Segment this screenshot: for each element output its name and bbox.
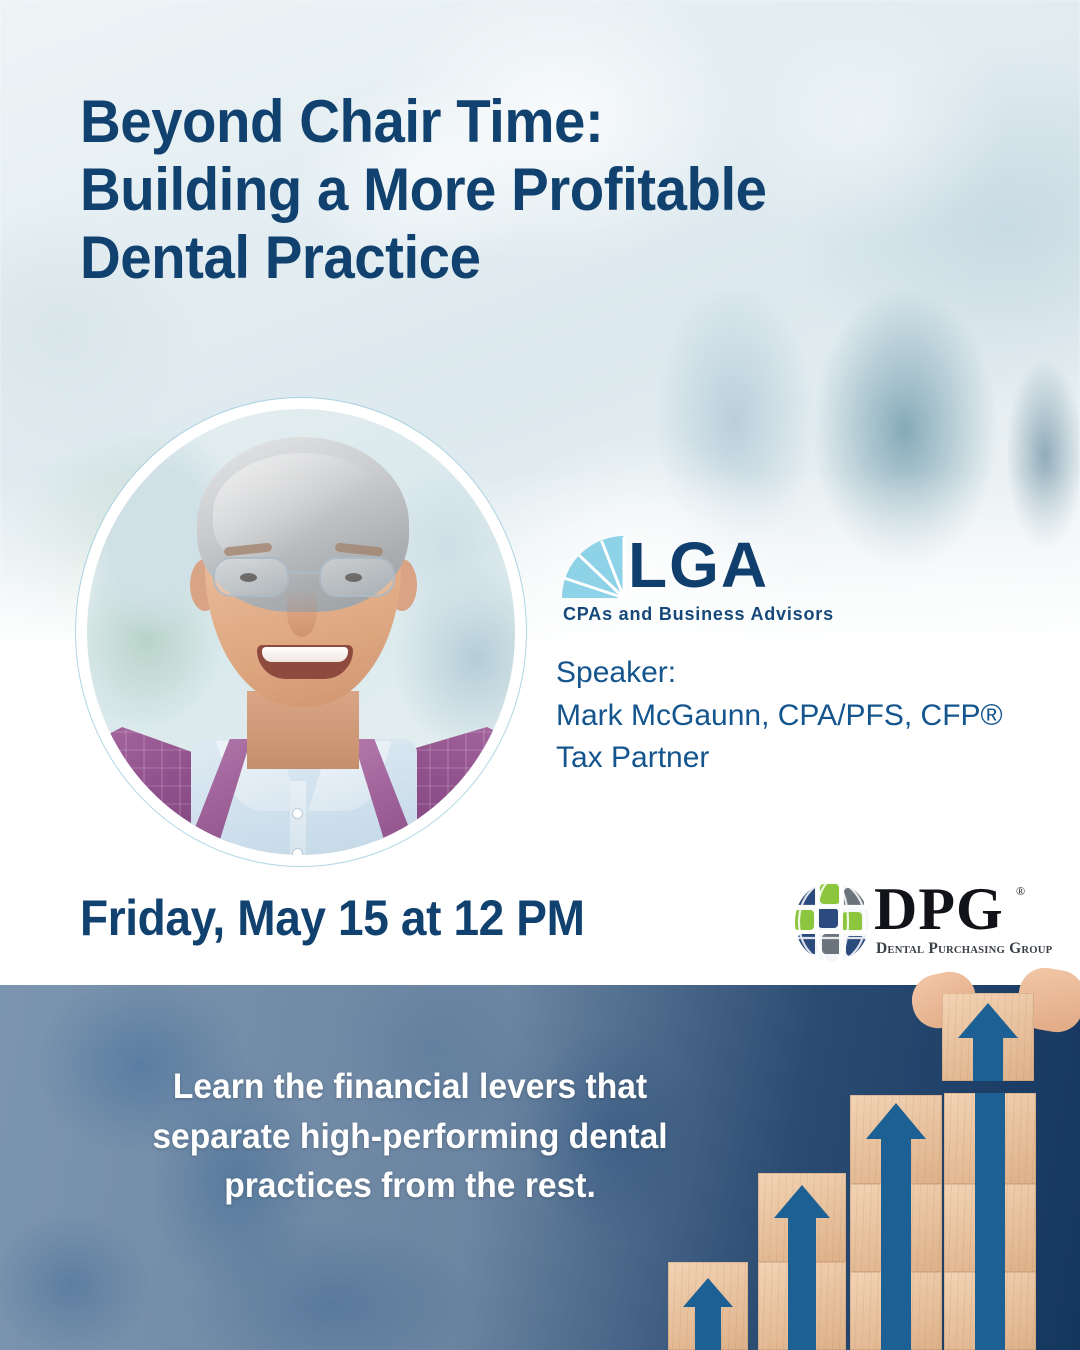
title-line-1: Beyond Chair Time: [80,88,973,156]
speaker-portrait [76,398,526,866]
block [944,1272,1036,1350]
block [668,1262,748,1350]
block [758,1262,846,1350]
lga-wordmark: LGA [628,530,769,600]
dpg-tagline: Dental Purchasing Group [876,940,1052,958]
teeth [262,647,348,662]
block [850,1184,942,1272]
speaker-label: Speaker: [556,652,1036,695]
lga-tagline: CPAs and Business Advisors [563,604,834,625]
tagline-line-2: separate high-performing dental [74,1112,746,1162]
registered-trademark-icon: ® [1016,884,1025,899]
dpg-wordmark: DPG [874,878,1004,940]
shirt-button [293,849,302,855]
lens-right [319,557,395,597]
tagline: Learn the financial levers that separate… [74,1062,746,1211]
title-line-2: Building a More Profitable [80,156,973,224]
speaker-role: Tax Partner [556,737,1036,780]
portrait-photo [87,409,515,855]
puzzle-globe-icon [790,880,874,964]
title-line-3: Dental Practice [80,224,973,292]
speaker-info: Speaker: Mark McGaunn, CPA/PFS, CFP® Tax… [556,652,1036,780]
block [944,1184,1036,1272]
speaker-name: Mark McGaunn, CPA/PFS, CFP® [556,695,1036,738]
promo-poster: Beyond Chair Time: Building a More Profi… [0,0,1080,1350]
glasses-bridge [289,571,319,574]
dpg-logo: DPG ® Dental Purchasing Group [790,876,1028,972]
nose [287,587,317,637]
tagline-line-1: Learn the financial levers that [74,1062,746,1112]
tagline-line-3: practices from the rest. [74,1161,746,1211]
event-date: Friday, May 15 at 12 PM [80,889,585,947]
block [850,1272,942,1350]
shirt-button [293,809,302,818]
lga-logo: LGA CPAs and Business Advisors [560,528,880,633]
fan-quarter-circle-icon [560,534,626,600]
shirt-placket [290,781,306,855]
block [944,1093,1036,1184]
lens-left [213,557,289,597]
block-being-placed [942,993,1034,1081]
smile [257,645,353,679]
block [758,1173,846,1262]
page-title: Beyond Chair Time: Building a More Profi… [80,88,973,291]
block [850,1095,942,1184]
